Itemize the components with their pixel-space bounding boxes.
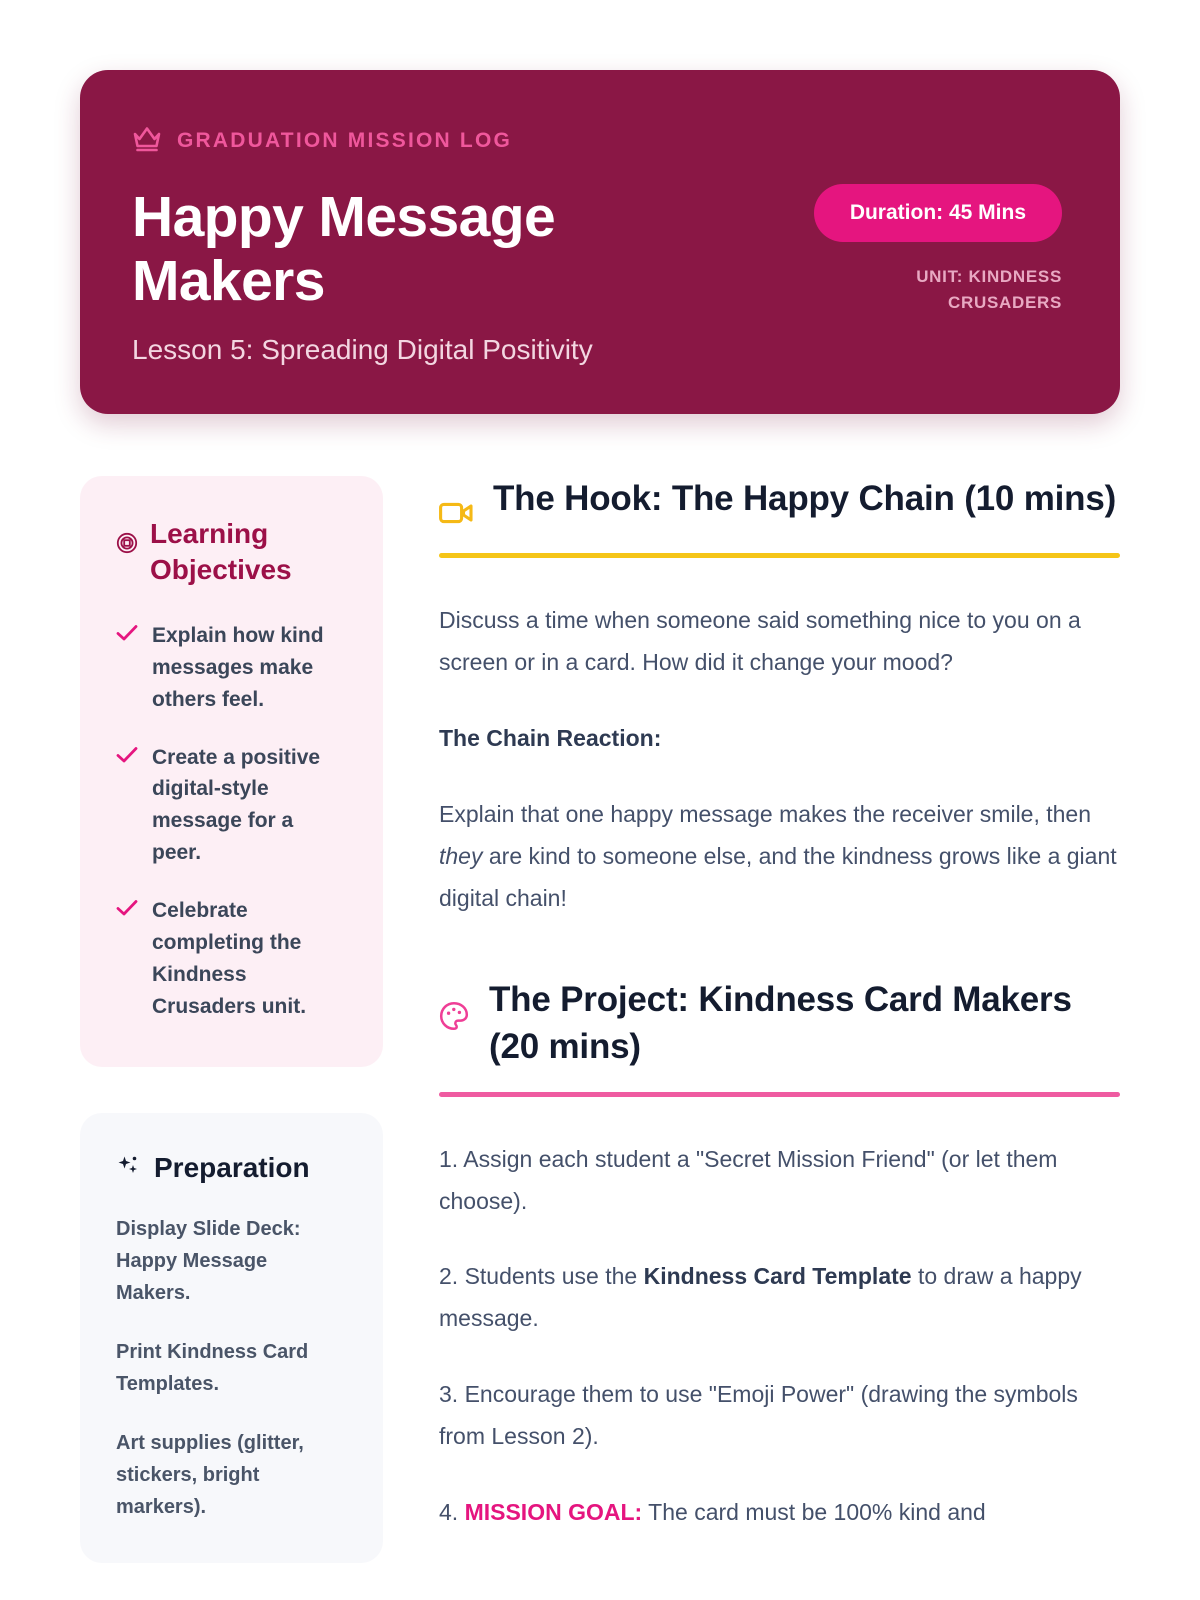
preparation-item: Art supplies (glitter, stickers, bright … [116,1428,347,1523]
objectives-list: Explain how kind messages make others fe… [116,620,347,1023]
list-item: Create a positive digital-style message … [116,742,347,870]
emphasis-they: they [439,843,482,869]
header-left-group: GRADUATION MISSION LOG Happy Message Mak… [132,124,752,368]
main-content: The Hook: The Happy Chain (10 mins) Disc… [439,476,1120,1592]
section-step: 3. Encourage them to use "Emoji Power" (… [439,1374,1120,1458]
section-subheading: The Chain Reaction: [439,718,1120,760]
check-icon [116,746,138,769]
section-paragraph: Discuss a time when someone said somethi… [439,600,1120,684]
section-header: The Project: Kindness Card Makers (20 mi… [439,977,1120,1069]
section-divider [439,553,1120,558]
video-camera-icon [439,500,473,531]
template-bold: Kindness Card Template [644,1263,912,1289]
section-step: 4. MISSION GOAL: The card must be 100% k… [439,1492,1120,1534]
content-area: Learning Objectives Explain how kind mes… [80,476,1120,1592]
section-paragraph: Explain that one happy message makes the… [439,794,1120,920]
breadcrumb: GRADUATION MISSION LOG [132,124,752,157]
section-title: The Project: Kindness Card Makers (20 mi… [489,977,1120,1069]
lesson-plan-page: GRADUATION MISSION LOG Happy Message Mak… [0,0,1200,1600]
unit-label: UNIT: KINDNESS CRUSADERS [862,264,1062,317]
learning-objectives-card: Learning Objectives Explain how kind mes… [80,476,383,1067]
lesson-subtitle: Lesson 5: Spreading Digital Positivity [132,332,752,368]
mission-goal-label: MISSION GOAL: [465,1499,643,1525]
section-title: The Hook: The Happy Chain (10 mins) [493,476,1116,522]
check-icon [116,624,138,647]
list-item: Explain how kind messages make others fe… [116,620,347,716]
duration-badge[interactable]: Duration: 45 Mins [814,184,1062,242]
eyebrow-label: GRADUATION MISSION LOG [177,130,512,151]
crown-icon [132,124,162,157]
check-icon [116,899,138,922]
sparkles-icon [116,1153,140,1182]
list-item: Celebrate completing the Kindness Crusad… [116,895,347,1023]
section-the-hook: The Hook: The Happy Chain (10 mins) Disc… [439,476,1120,919]
chain-reaction-label: The Chain Reaction: [439,725,661,751]
header-right-group: Duration: 45 Mins UNIT: KINDNESS CRUSADE… [814,124,1062,317]
preparation-title: Preparation [154,1151,310,1185]
page-title: Happy Message Makers [132,185,752,314]
section-step: 1. Assign each student a "Secret Mission… [439,1139,1120,1223]
preparation-card: Preparation Display Slide Deck: Happy Me… [80,1113,383,1563]
objective-text: Celebrate completing the Kindness Crusad… [152,895,347,1023]
palette-icon [439,1001,469,1036]
section-divider [439,1092,1120,1097]
objective-text: Create a positive digital-style message … [152,742,347,870]
section-step: 2. Students use the Kindness Card Templa… [439,1256,1120,1340]
preparation-header: Preparation [116,1151,347,1185]
objective-text: Explain how kind messages make others fe… [152,620,347,716]
objectives-title: Learning Objectives [150,516,347,588]
section-header: The Hook: The Happy Chain (10 mins) [439,476,1120,531]
sidebar: Learning Objectives Explain how kind mes… [80,476,383,1592]
lesson-header-card: GRADUATION MISSION LOG Happy Message Mak… [80,70,1120,414]
objectives-header: Learning Objectives [116,516,347,588]
preparation-item: Display Slide Deck: Happy Message Makers… [116,1214,347,1309]
section-the-project: The Project: Kindness Card Makers (20 mi… [439,977,1120,1533]
target-icon [116,532,138,559]
preparation-item: Print Kindness Card Templates. [116,1337,347,1400]
